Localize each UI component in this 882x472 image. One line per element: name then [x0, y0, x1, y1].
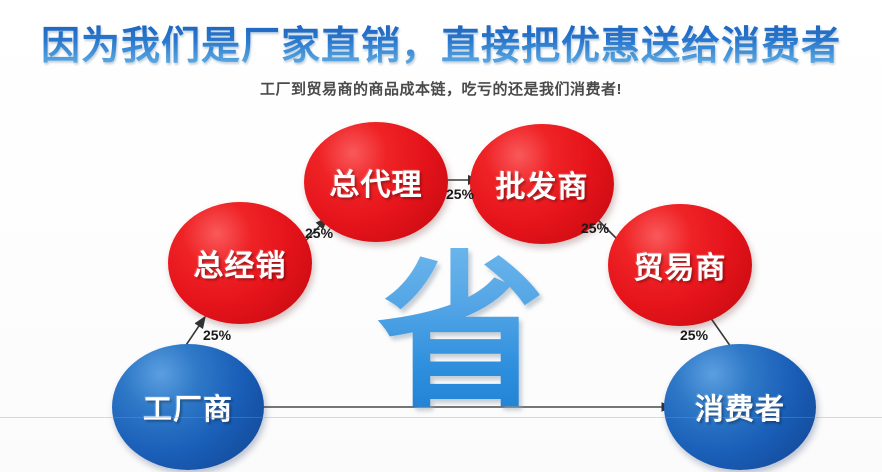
shelf-divider	[0, 417, 882, 418]
markup-label-wholesaler-to-trader: 25%	[581, 220, 609, 236]
center-save-glyph: 省	[371, 248, 551, 418]
node-general-distributor[interactable]: 总经销	[168, 202, 312, 324]
node-general-agent-label: 总代理	[330, 160, 423, 204]
markup-label-agent-to-wholesaler: 25%	[446, 186, 474, 202]
node-consumer-label: 消费者	[695, 386, 785, 428]
node-factory-label: 工厂商	[143, 386, 233, 428]
node-general-agent[interactable]: 总代理	[304, 122, 448, 242]
node-trader-label: 贸易商	[634, 243, 727, 287]
cost-chain-diagram: 省 工厂商 总经销 总代理 批发商 贸易商 消费者 25% 25% 25% 25…	[0, 0, 882, 472]
node-consumer[interactable]: 消费者	[664, 344, 816, 470]
node-trader[interactable]: 贸易商	[608, 204, 752, 326]
node-general-distributor-label: 总经销	[194, 241, 287, 285]
markup-label-trader-to-consumer: 25%	[680, 327, 708, 343]
markup-label-distributor-to-agent: 25%	[305, 225, 333, 241]
promo-poster: 因为我们是厂家直销，直接把优惠送给消费者 工厂到贸易商的商品成本链，吃亏的还是我…	[0, 0, 882, 472]
markup-label-factory-to-distributor: 25%	[203, 327, 231, 343]
node-wholesaler-label: 批发商	[496, 162, 589, 206]
node-factory[interactable]: 工厂商	[112, 344, 264, 470]
